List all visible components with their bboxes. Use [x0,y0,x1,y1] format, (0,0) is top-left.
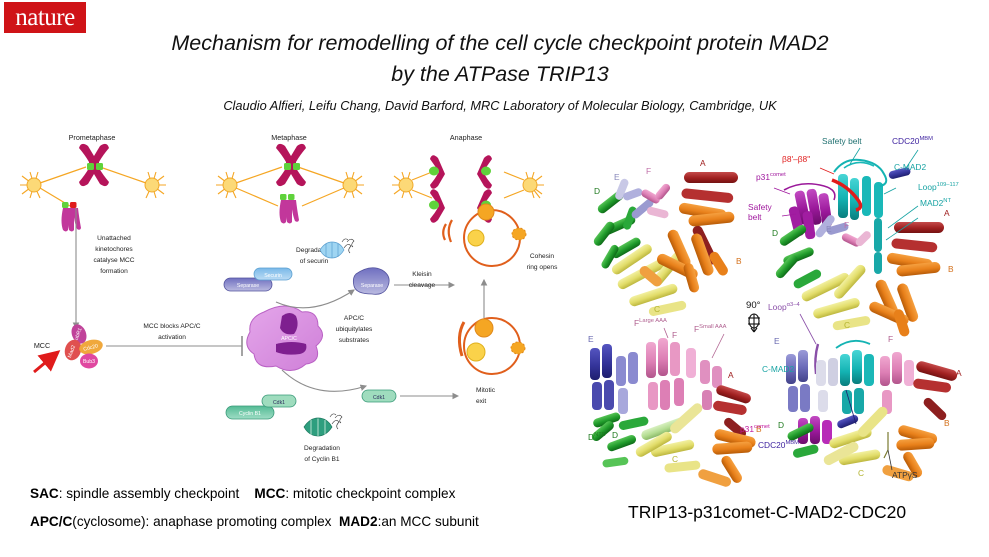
kleisin-line-1: Kleisin [412,271,432,278]
author-affiliation-line: Claudio Alfieri, Leifu Chang, David Barf… [100,98,900,113]
bl-label-E: E [588,334,594,344]
tr-label-F: F [844,220,849,230]
bl-label-C: C [672,454,678,464]
br-label-D: D [778,420,784,430]
title-line-1: Mechanism for remodelling of the cell cy… [100,28,900,59]
legend-def-apcc: (cyclosome): anaphase promoting complex [72,514,331,529]
tr-label-beta8: β8'–β8" [782,154,810,164]
mitotic-exit-line-1: Mitotic [476,387,496,394]
br-label-C: C [858,468,864,478]
title-line-2: by the ATPase TRIP13 [100,59,900,90]
cell-cycle-schematic: Prometaphase [14,130,606,470]
mcc-blocks-annotation: MCC blocks APC/C activation [106,323,242,356]
tr-label-E: E [826,224,832,234]
tl-label-A: A [700,158,706,168]
metaphase-label: Metaphase [271,133,307,142]
legend-term-sac: SAC [30,486,59,501]
slide-canvas: nature Mechanism for remodelling of the … [0,0,989,557]
structure-panels: D E F A B C [588,132,986,497]
br-label-atpgs: ATPγS [892,470,918,480]
mitotic-exit-line-2: exit [476,398,486,405]
legend-term-mad2: MAD2 [339,514,378,529]
mitotic-exit-annotation: Mitotic exit [400,387,496,405]
bl-label-A: A [728,370,734,380]
bl-label-F-large: FLarge AAA [634,318,667,328]
mad2-red-arrow [34,352,58,372]
cdk1-chip-label: Cdk1 [273,400,285,406]
tr-label-cdc20: CDC20MBM [892,136,933,146]
cohesin-line-1: Cohesin [530,253,555,260]
kleisin-cleavage-annotation: Kleisin cleavage [394,271,454,289]
abbreviation-legend: SAC: spindle assembly checkpoint MCC: mi… [30,480,479,536]
tr-label-p31comet: p31comet [756,172,786,182]
mcc-subunit-bub3: Bub3 [83,359,95,365]
tl-label-C: C [654,304,660,314]
separase-securin-complex: Separase Securin [224,268,292,291]
structure-panel-bottom-left: FLarge AAA F FSmall AAA E A DNTD D C B [588,318,762,488]
unattached-line-1: Unattached [97,235,131,242]
br-label-B: B [944,418,950,428]
tr-label-safety-belt-1: Safety belt [822,136,862,146]
prometaphase-label: Prometaphase [69,133,116,142]
tl-label-E: E [614,172,620,182]
cohesin-ring-open: Cohesin ring opens [443,204,558,271]
nature-logo: nature [4,2,86,33]
legend-row-1: SAC: spindle assembly checkpoint MCC: mi… [30,480,479,508]
unattached-kinetochore-annotation: Unattached kinetochores catalyse MCC for… [76,208,135,328]
arrow-to-cdk1 [282,370,366,391]
free-separase-label: Separase [361,283,383,289]
tr-label-D: D [772,228,778,238]
tl-label-D: D [594,186,600,196]
bl-label-F-small: FSmall AAA [694,324,727,334]
apcc-ubiq-line-1: APC/C [344,315,364,322]
tr-label-safety-belt-2b: belt [748,212,762,222]
tl-label-B: B [736,256,742,266]
mcc-blocks-line-2: activation [158,334,186,341]
cyclin-degradation: Degradation of Cyclin B1 [304,414,342,463]
bl-label-D: D [612,430,618,440]
unattached-line-2: kinetochores [95,246,133,253]
kleisin-line-2: cleavage [409,282,436,289]
unattached-line-3: catalyse MCC [93,257,134,264]
structure-caption: TRIP13-p31comet-C-MAD2-CDC20 [628,502,906,523]
securin-degradation: Degradation of securin [296,239,354,265]
br-label-E: E [774,336,780,346]
tr-label-A: A [944,208,950,218]
structure-panel-bottom-right: Loopα3–4 E C-MAD2 F A p31comet CDC20MBM … [740,302,962,482]
cohesin-line-2: ring opens [527,264,558,271]
br-label-A: A [956,368,962,378]
apcc-complex: APC/C APC/C ubiquitylates substrates [247,306,373,371]
deg-cyclin-line-1: Degradation [304,445,340,452]
deg-securin-line-2: of securin [300,258,329,265]
legend-def-mcc: : mitotic checkpoint complex [285,486,455,501]
tr-label-mad2nt: MAD2NT [920,198,951,208]
br-label-F: F [888,334,893,344]
tr-label-c-mad2: C-MAD2 [894,162,926,172]
mcc-blocks-line-1: MCC blocks APC/C [143,323,200,330]
unattached-line-4: formation [100,268,128,275]
structure-panel-top-left: D E F A B C [592,158,742,317]
legend-row-2: APC/C(cyclosome): anaphase promoting com… [30,508,479,536]
legend-def-sac: : spindle assembly checkpoint [59,486,240,501]
legend-def-mad2: :an MCC subunit [378,514,479,529]
apcc-chip-label: APC/C [281,336,297,342]
prometaphase-group: Prometaphase [20,133,166,232]
cohesin-ring-closed [459,318,525,374]
securin-chip-label: Securin [264,273,282,279]
bl-label-F: F [672,330,677,340]
rotation-label: 90° [746,300,761,311]
legend-term-mcc: MCC [254,486,285,501]
tr-label-B: B [948,264,954,274]
cdk1b-chip-label: Cdk1 [373,395,385,401]
anaphase-group: Anaphase [392,133,544,223]
cyclin-cdk-complex: Cyclin B1 Cdk1 Cdk1 [226,370,396,419]
tr-label-C: C [844,320,850,330]
free-separase: Separase [353,268,389,295]
apcc-ubiq-line-3: substrates [339,337,370,344]
tr-label-loop109: Loop109–117 [918,182,959,192]
mcc-complex: MCC BubR1 Mad2 Cdc20 Bub3 [34,322,105,372]
mcc-label: MCC [34,341,50,350]
legend-term-apcc: APC/C [30,514,72,529]
br-label-c-mad2: C-MAD2 [762,364,794,374]
page-title: Mechanism for remodelling of the cell cy… [100,28,900,90]
tl-label-F: F [646,166,651,176]
separase-chip-label: Separase [237,283,259,289]
metaphase-group: Metaphase [216,133,364,224]
arrow-to-separase [276,290,354,308]
cyclinb1-chip-label: Cyclin B1 [239,411,261,417]
tr-label-safety-belt-2a: Safety [748,202,773,212]
br-label-loop-a34: Loopα3–4 [768,302,800,312]
br-label-cdc20: CDC20MBM [758,440,799,450]
apcc-ubiq-line-2: ubiquitylates [336,326,373,333]
rotation-indicator-90deg: 90° [746,300,761,332]
deg-cyclin-line-2: of Cyclin B1 [304,456,340,463]
anaphase-label: Anaphase [450,133,482,142]
